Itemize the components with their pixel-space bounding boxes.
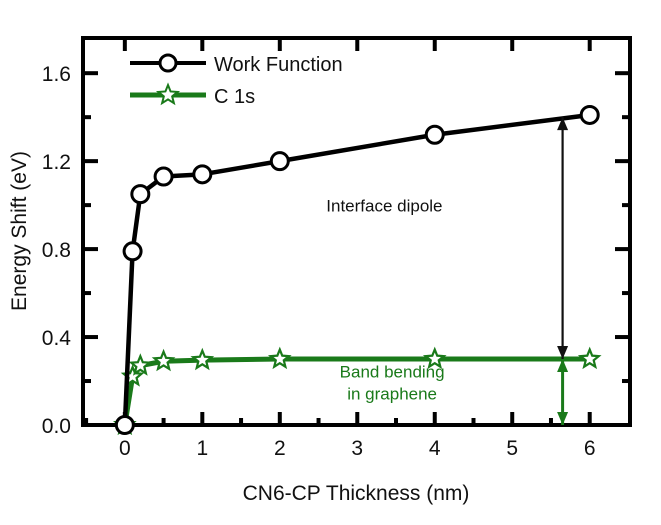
data-point-circle bbox=[581, 106, 598, 123]
data-point-circle bbox=[271, 153, 288, 170]
x-tick-label: 1 bbox=[196, 437, 208, 460]
data-point-circle bbox=[124, 243, 141, 260]
data-point-circle bbox=[132, 186, 149, 203]
band-bending-label-line1: Band bending bbox=[340, 363, 445, 382]
y-tick-label: 1.6 bbox=[42, 63, 71, 86]
x-tick-label: 3 bbox=[351, 437, 363, 460]
x-tick-label: 0 bbox=[119, 437, 131, 460]
x-tick-label: 2 bbox=[274, 437, 286, 460]
y-axis-title: Energy Shift (eV) bbox=[8, 151, 31, 311]
band-bending-label-line2: in graphene bbox=[347, 385, 437, 404]
data-point-circle bbox=[194, 166, 211, 183]
y-tick-label: 0.4 bbox=[42, 327, 72, 350]
legend-label-c-1s: C 1s bbox=[214, 86, 255, 108]
x-tick-label: 4 bbox=[429, 437, 441, 460]
energy-shift-chart: 0123456 0.00.40.81.21.6 Interface dipole… bbox=[0, 0, 661, 525]
legend-label-work-function: Work Function bbox=[214, 54, 343, 76]
legend-marker-circle-icon bbox=[160, 55, 176, 71]
x-axis-title: CN6-CP Thickness (nm) bbox=[243, 482, 470, 505]
figure-container: 0123456 0.00.40.81.21.6 Interface dipole… bbox=[0, 0, 661, 525]
data-point-circle bbox=[155, 168, 172, 185]
data-point-circle bbox=[116, 417, 133, 434]
y-tick-label: 0.0 bbox=[42, 415, 71, 438]
x-tick-label: 6 bbox=[584, 437, 596, 460]
data-point-circle bbox=[426, 126, 443, 143]
y-tick-label: 1.2 bbox=[42, 151, 71, 174]
x-tick-label: 5 bbox=[506, 437, 518, 460]
y-tick-label: 0.8 bbox=[42, 239, 71, 262]
interface-dipole-label: Interface dipole bbox=[326, 197, 442, 216]
